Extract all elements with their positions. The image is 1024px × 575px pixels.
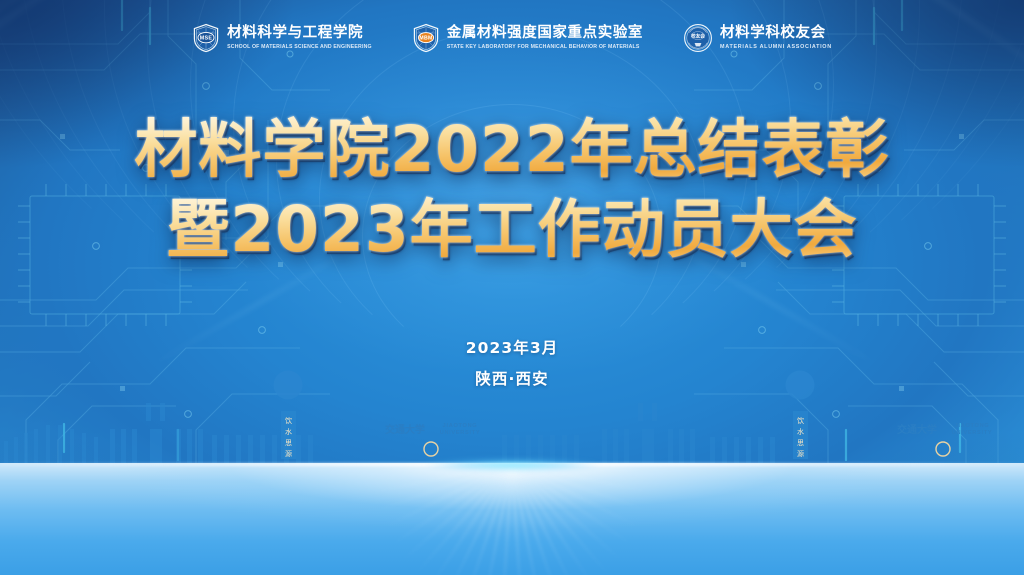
logo-name-cn: 材料学科校友会 — [720, 25, 832, 42]
logo-name-en: School of Materials Science and Engineer… — [227, 44, 372, 51]
center-flare — [392, 457, 632, 473]
svg-text:MSE: MSE — [200, 36, 213, 42]
logo-state-key-lab: MBM 金属材料强度国家重点实验室 State Key Laboratory f… — [412, 23, 643, 53]
svg-text:水: 水 — [285, 427, 292, 436]
title-line-1: 材料学院2022年总结表彰 — [0, 108, 1024, 192]
logo-name-en: State Key Laboratory for Mechanical Beha… — [447, 44, 643, 51]
svg-text:水: 水 — [797, 427, 804, 436]
ground-light-rays — [0, 463, 1024, 575]
logo-name-cn: 材料科学与工程学院 — [227, 25, 372, 42]
svg-text:思: 思 — [285, 439, 292, 447]
logo-name-en: Materials Alumni Association — [720, 44, 832, 51]
event-location: 陕西·西安 — [0, 364, 1024, 395]
gate-name-en2-left: UNIVERSITY — [440, 430, 481, 436]
main-title: 材料学院2022年总结表彰 暨2023年工作动员大会 — [0, 108, 1024, 273]
svg-text:思: 思 — [797, 439, 804, 447]
alumni-circle-icon: 校友会 — [683, 23, 713, 53]
conference-banner: MSE 材料科学与工程学院 School of Materials Scienc… — [0, 0, 1024, 575]
logo-school-of-materials: MSE 材料科学与工程学院 School of Materials Scienc… — [192, 23, 372, 53]
svg-text:饮: 饮 — [797, 416, 804, 425]
svg-text:饮: 饮 — [285, 416, 292, 425]
mse-shield-icon: MSE — [192, 23, 220, 53]
university-gate-right: 交通大学 JIAOTONG UNIVERSITY — [880, 407, 1006, 467]
svg-text:MBM: MBM — [419, 36, 432, 42]
ground-plane — [0, 463, 1024, 575]
event-subtitle: 2023年3月 陕西·西安 — [0, 333, 1024, 395]
gate-name-en1-left: JIAOTONG — [443, 423, 478, 429]
logo-name-cn: 金属材料强度国家重点实验室 — [447, 25, 643, 42]
mbm-shield-icon: MBM — [412, 23, 440, 53]
event-date: 2023年3月 — [0, 333, 1024, 364]
title-line-2: 暨2023年工作动员大会 — [0, 188, 1024, 272]
svg-text:源: 源 — [285, 449, 292, 458]
gate-name-en2-right: UNIVERSITY — [952, 430, 993, 436]
gate-name-cn-left: 交通大学 — [385, 423, 425, 436]
gate-name-cn-right: 交通大学 — [897, 423, 937, 436]
svg-text:源: 源 — [797, 449, 804, 458]
logo-materials-alumni: 校友会 材料学科校友会 Materials Alumni Association — [683, 23, 832, 53]
svg-text:校友会: 校友会 — [691, 32, 705, 39]
organization-logo-bar: MSE 材料科学与工程学院 School of Materials Scienc… — [0, 23, 1024, 53]
gate-name-en1-right: JIAOTONG — [955, 423, 990, 429]
